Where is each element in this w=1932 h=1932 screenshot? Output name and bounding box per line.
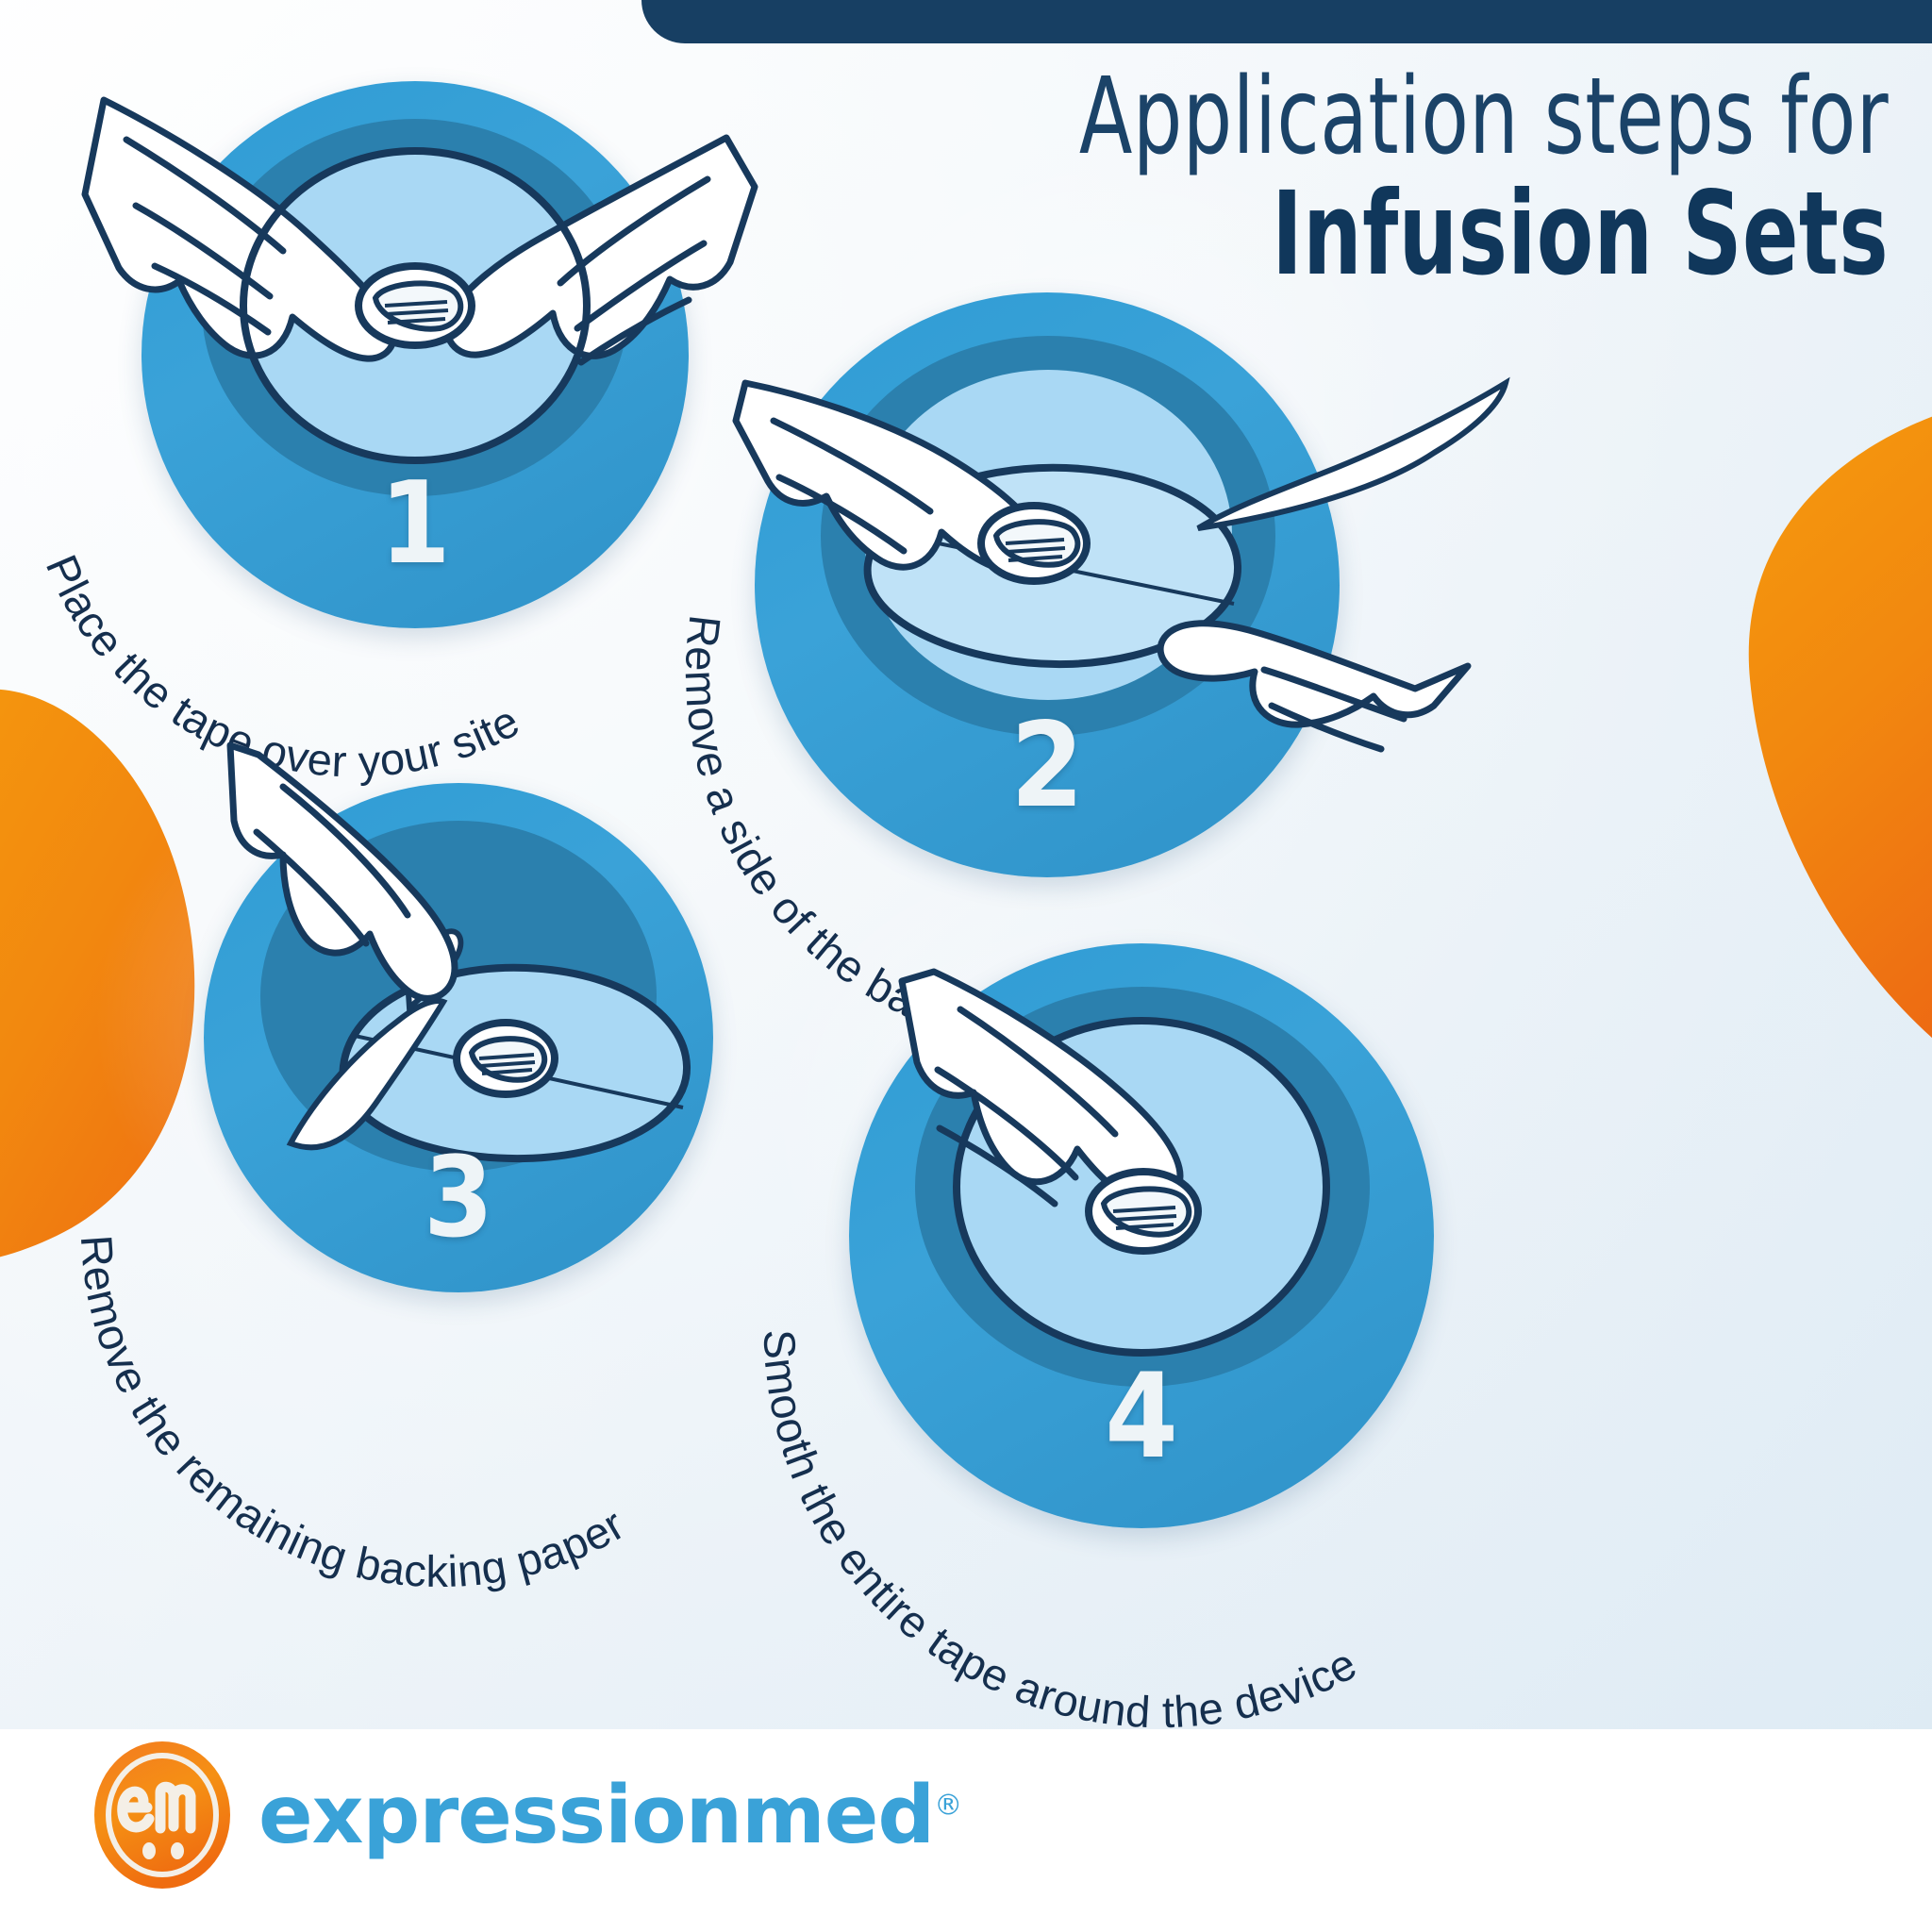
header-accent-bar — [641, 0, 1932, 43]
page-title: Application steps for Infusion Sets — [643, 62, 1889, 293]
step-2: 2 Remove a side of the backing paper — [755, 292, 1340, 877]
brand-name-text: expressionmed — [258, 1769, 934, 1862]
title-line-primary: Application steps for — [868, 62, 1889, 172]
step-4-number: 4 — [849, 1349, 1434, 1485]
em-smiley-logo-icon — [91, 1740, 234, 1890]
step-3-number: 3 — [204, 1132, 713, 1262]
infusion-device-icon — [457, 1023, 555, 1094]
title-line-secondary: Infusion Sets — [892, 175, 1889, 292]
step-1: 1 Place the tape over your site — [142, 81, 689, 628]
infusion-device-icon — [1089, 1172, 1198, 1251]
step-4: 4 Smooth the entire tape around the devi… — [849, 943, 1434, 1528]
infusion-device-icon — [981, 506, 1087, 581]
brand-wordmark: expressionmed® — [258, 1769, 961, 1862]
step-1-number: 1 — [142, 458, 689, 590]
infusion-device-icon — [358, 266, 472, 345]
brand-logo[interactable]: expressionmed® — [91, 1740, 961, 1890]
step-3: 3 Remove the remaining backing paper — [204, 783, 713, 1292]
registered-trademark-mark: ® — [934, 1789, 961, 1822]
step-2-number: 2 — [755, 698, 1340, 834]
infographic-poster: Application steps for Infusion Sets — [0, 0, 1932, 1932]
